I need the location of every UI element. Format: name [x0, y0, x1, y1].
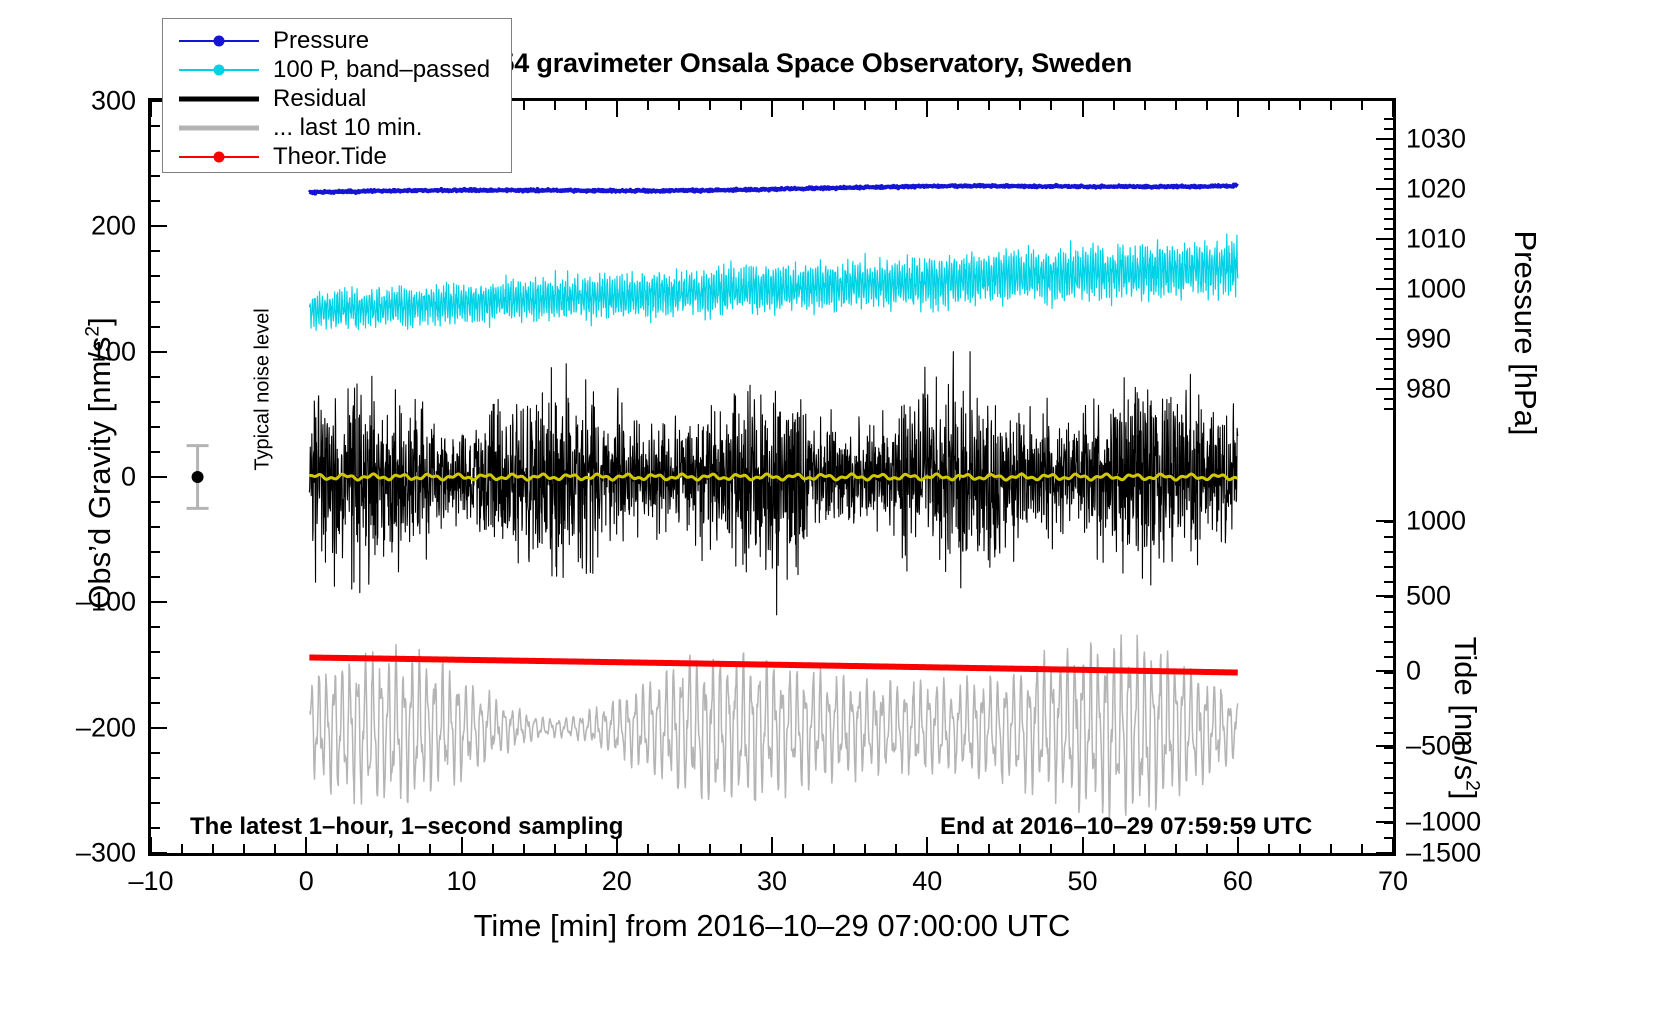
axis-tick	[1361, 844, 1363, 853]
y-tick-label-tide: –500	[1406, 731, 1466, 762]
axis-tick	[151, 702, 160, 704]
axis-tick	[151, 601, 167, 603]
axis-tick	[1050, 844, 1052, 853]
y-tick-label-pressure: 1020	[1406, 173, 1466, 204]
legend-marker-icon	[214, 64, 225, 75]
data-traces	[151, 101, 1393, 853]
trace-pressure	[309, 185, 1237, 194]
noise-errorbar-point	[192, 471, 204, 483]
y-tick-label-gravity: –300	[18, 838, 136, 869]
y-tick-label-tide: 1000	[1406, 505, 1466, 536]
axis-tick	[1384, 641, 1393, 643]
axis-tick	[336, 844, 338, 853]
axis-tick	[1384, 328, 1393, 330]
axis-tick	[429, 844, 431, 853]
legend-swatch-icon	[179, 118, 259, 138]
axis-tick	[1384, 581, 1393, 583]
axis-tick	[151, 827, 160, 829]
axis-tick	[833, 844, 835, 853]
axis-tick	[833, 101, 835, 110]
axis-tick	[492, 844, 494, 853]
chart-page: SCG_054 gravimeter Onsala Space Observat…	[0, 0, 1660, 1020]
axis-tick	[1384, 702, 1393, 704]
axis-tick	[243, 844, 245, 853]
axis-tick	[1384, 717, 1393, 719]
axis-tick	[988, 101, 990, 110]
axis-tick	[1384, 408, 1393, 410]
x-tick-label: 0	[299, 866, 314, 897]
axis-tick	[1376, 138, 1393, 140]
axis-tick	[554, 101, 556, 110]
axis-tick	[151, 727, 167, 729]
axis-tick	[151, 526, 160, 528]
axis-tick	[151, 777, 160, 779]
axis-tick	[1384, 358, 1393, 360]
y-tick-label-gravity: 100	[18, 336, 136, 367]
y-tick-label-gravity: 200	[18, 211, 136, 242]
legend-swatch-icon	[179, 89, 259, 109]
axis-tick	[1376, 670, 1393, 672]
y-axis-pressure-title: Pressure [hPa]	[1507, 73, 1543, 593]
axis-tick	[1206, 101, 1208, 110]
axis-tick	[151, 275, 160, 277]
legend-item-2: Residual	[163, 84, 511, 113]
y-tick-label-tide: –1000	[1406, 806, 1481, 837]
axis-tick	[1376, 388, 1393, 390]
axis-tick	[1082, 101, 1084, 117]
axis-tick	[1268, 101, 1270, 110]
x-tick-label: 60	[1223, 866, 1253, 897]
axis-tick	[523, 101, 525, 110]
axis-tick	[1384, 198, 1393, 200]
end-time-note: End at 2016–10–29 07:59:59 UTC	[940, 813, 1312, 841]
axis-tick	[1384, 308, 1393, 310]
y-tick-label-pressure: 1010	[1406, 223, 1466, 254]
axis-tick	[151, 626, 160, 628]
axis-tick	[1376, 288, 1393, 290]
axis-tick	[1384, 218, 1393, 220]
axis-tick	[1384, 837, 1393, 839]
axis-tick	[151, 125, 160, 127]
axis-tick	[1384, 148, 1393, 150]
legend-marker-icon	[214, 35, 225, 46]
axis-tick	[367, 844, 369, 853]
axis-tick	[151, 351, 167, 353]
axis-tick	[1392, 101, 1394, 117]
axis-tick	[1384, 268, 1393, 270]
axis-tick	[1019, 844, 1021, 853]
axis-tick	[1376, 520, 1393, 522]
axis-tick	[212, 844, 214, 853]
axis-tick	[1384, 248, 1393, 250]
axis-tick	[1376, 852, 1393, 854]
axis-tick	[1376, 188, 1393, 190]
axis-tick	[151, 150, 160, 152]
axis-tick	[1113, 101, 1115, 110]
axis-tick	[398, 844, 400, 853]
axis-tick	[1384, 118, 1393, 120]
axis-tick	[1175, 844, 1177, 853]
axis-tick	[1384, 178, 1393, 180]
x-tick-label: 40	[912, 866, 942, 897]
axis-tick	[151, 175, 160, 177]
axis-tick	[151, 301, 160, 303]
axis-tick	[151, 376, 160, 378]
y-tick-label-gravity: 0	[18, 462, 136, 493]
axis-tick	[771, 837, 773, 853]
legend-swatch-icon	[179, 147, 259, 167]
axis-tick	[1376, 238, 1393, 240]
y-tick-label-gravity: –200	[18, 712, 136, 743]
axis-tick	[1384, 732, 1393, 734]
axis-tick	[1330, 101, 1332, 110]
legend-item-1: 100 P, band–passed	[163, 55, 511, 84]
axis-tick	[864, 844, 866, 853]
legend-swatch-icon	[179, 31, 259, 51]
axis-tick	[1384, 168, 1393, 170]
axis-tick	[1384, 762, 1393, 764]
axis-tick	[523, 844, 525, 853]
legend-item-0: Pressure	[163, 26, 511, 55]
axis-tick	[678, 844, 680, 853]
axis-tick	[1384, 298, 1393, 300]
axis-tick	[1299, 101, 1301, 110]
axis-tick	[151, 651, 160, 653]
axis-tick	[151, 677, 160, 679]
axis-tick	[1384, 551, 1393, 553]
y-tick-label-tide: –1500	[1406, 838, 1481, 869]
axis-tick	[150, 837, 152, 853]
axis-tick	[1384, 258, 1393, 260]
axis-tick	[1384, 228, 1393, 230]
axis-tick	[1268, 844, 1270, 853]
axis-tick	[1384, 536, 1393, 538]
legend: Pressure100 P, band–passedResidual... la…	[162, 18, 512, 173]
legend-item-3: ... last 10 min.	[163, 113, 511, 142]
y-tick-label-pressure: 1030	[1406, 123, 1466, 154]
axis-tick	[151, 401, 160, 403]
axis-tick	[151, 426, 160, 428]
axis-tick	[1384, 792, 1393, 794]
x-axis-title: Time [min] from 2016–10–29 07:00:00 UTC	[148, 908, 1396, 944]
x-tick-label: 30	[757, 866, 787, 897]
axis-tick	[181, 844, 183, 853]
axis-tick	[1384, 566, 1393, 568]
axis-tick	[1384, 278, 1393, 280]
x-tick-label: 10	[446, 866, 476, 897]
y-tick-label-tide: 500	[1406, 581, 1451, 612]
axis-tick	[709, 101, 711, 110]
y-tick-label-tide: 0	[1406, 656, 1421, 687]
axis-tick	[1376, 595, 1393, 597]
x-tick-label: 70	[1378, 866, 1408, 897]
axis-tick	[709, 844, 711, 853]
legend-item-4: Theor.Tide	[163, 142, 511, 171]
axis-tick	[1361, 101, 1363, 110]
axis-tick	[1384, 208, 1393, 210]
axis-tick	[151, 802, 160, 804]
latest-sampling-note: The latest 1–hour, 1–second sampling	[190, 813, 623, 841]
axis-tick	[1019, 101, 1021, 110]
axis-tick	[1392, 837, 1394, 853]
axis-tick	[1299, 844, 1301, 853]
axis-tick	[957, 101, 959, 110]
axis-tick	[616, 101, 618, 117]
axis-tick	[1384, 611, 1393, 613]
axis-tick	[926, 837, 928, 853]
axis-tick	[151, 225, 167, 227]
axis-tick	[151, 476, 167, 478]
y-tick-label-gravity: –100	[18, 587, 136, 618]
axis-tick	[1384, 656, 1393, 658]
y-tick-label-pressure: 990	[1406, 324, 1451, 355]
axis-tick	[1384, 398, 1393, 400]
axis-tick	[1376, 821, 1393, 823]
axis-tick	[151, 200, 160, 202]
axis-tick	[554, 844, 556, 853]
axis-tick	[1384, 158, 1393, 160]
legend-label: Pressure	[273, 27, 369, 55]
axis-tick	[151, 576, 160, 578]
axis-tick	[151, 501, 160, 503]
axis-tick	[1330, 844, 1332, 853]
legend-label: 100 P, band–passed	[273, 56, 490, 84]
axis-tick	[150, 101, 152, 117]
axis-tick	[802, 844, 804, 853]
axis-tick	[802, 101, 804, 110]
axis-tick	[647, 101, 649, 110]
axis-tick	[957, 844, 959, 853]
axis-tick	[585, 844, 587, 853]
axis-tick	[1113, 844, 1115, 853]
y-tick-label-gravity: 300	[18, 86, 136, 117]
axis-tick	[1206, 844, 1208, 853]
axis-tick	[1384, 626, 1393, 628]
legend-marker-icon	[214, 151, 225, 162]
axis-tick	[1384, 378, 1393, 380]
axis-tick	[1384, 348, 1393, 350]
axis-tick	[1050, 101, 1052, 110]
axis-tick	[1144, 844, 1146, 853]
axis-tick	[151, 551, 160, 553]
axis-tick	[274, 844, 276, 853]
axis-tick	[740, 844, 742, 853]
axis-tick	[1384, 368, 1393, 370]
axis-tick	[1384, 128, 1393, 130]
axis-tick	[151, 752, 160, 754]
axis-tick	[926, 101, 928, 117]
axis-tick	[1237, 101, 1239, 117]
x-tick-label: –10	[128, 866, 173, 897]
axis-tick	[1175, 101, 1177, 110]
axis-tick	[585, 101, 587, 110]
trace-pressure-bandpassed	[309, 234, 1237, 331]
trace-residual	[309, 352, 1237, 615]
axis-tick	[151, 250, 160, 252]
axis-tick	[1376, 745, 1393, 747]
legend-label: ... last 10 min.	[273, 114, 422, 142]
axis-tick	[1384, 777, 1393, 779]
axis-tick	[895, 101, 897, 110]
axis-tick	[1384, 807, 1393, 809]
plot-area	[148, 98, 1396, 856]
legend-label: Theor.Tide	[273, 143, 387, 171]
axis-tick	[151, 326, 160, 328]
axis-tick	[740, 101, 742, 110]
x-tick-label: 50	[1067, 866, 1097, 897]
y-tick-label-pressure: 1000	[1406, 274, 1466, 305]
y-tick-label-pressure: 980	[1406, 374, 1451, 405]
axis-tick	[151, 852, 167, 854]
axis-tick	[1376, 338, 1393, 340]
axis-tick	[1384, 318, 1393, 320]
legend-label: Residual	[273, 85, 366, 113]
legend-swatch-icon	[179, 60, 259, 80]
axis-tick	[151, 451, 160, 453]
axis-tick	[864, 101, 866, 110]
axis-tick	[895, 844, 897, 853]
axis-tick	[678, 101, 680, 110]
axis-tick	[1144, 101, 1146, 110]
x-tick-label: 20	[602, 866, 632, 897]
axis-tick	[771, 101, 773, 117]
axis-tick	[988, 844, 990, 853]
typical-noise-level-label: Typical noise level	[252, 245, 275, 535]
axis-tick	[1384, 687, 1393, 689]
axis-tick	[647, 844, 649, 853]
